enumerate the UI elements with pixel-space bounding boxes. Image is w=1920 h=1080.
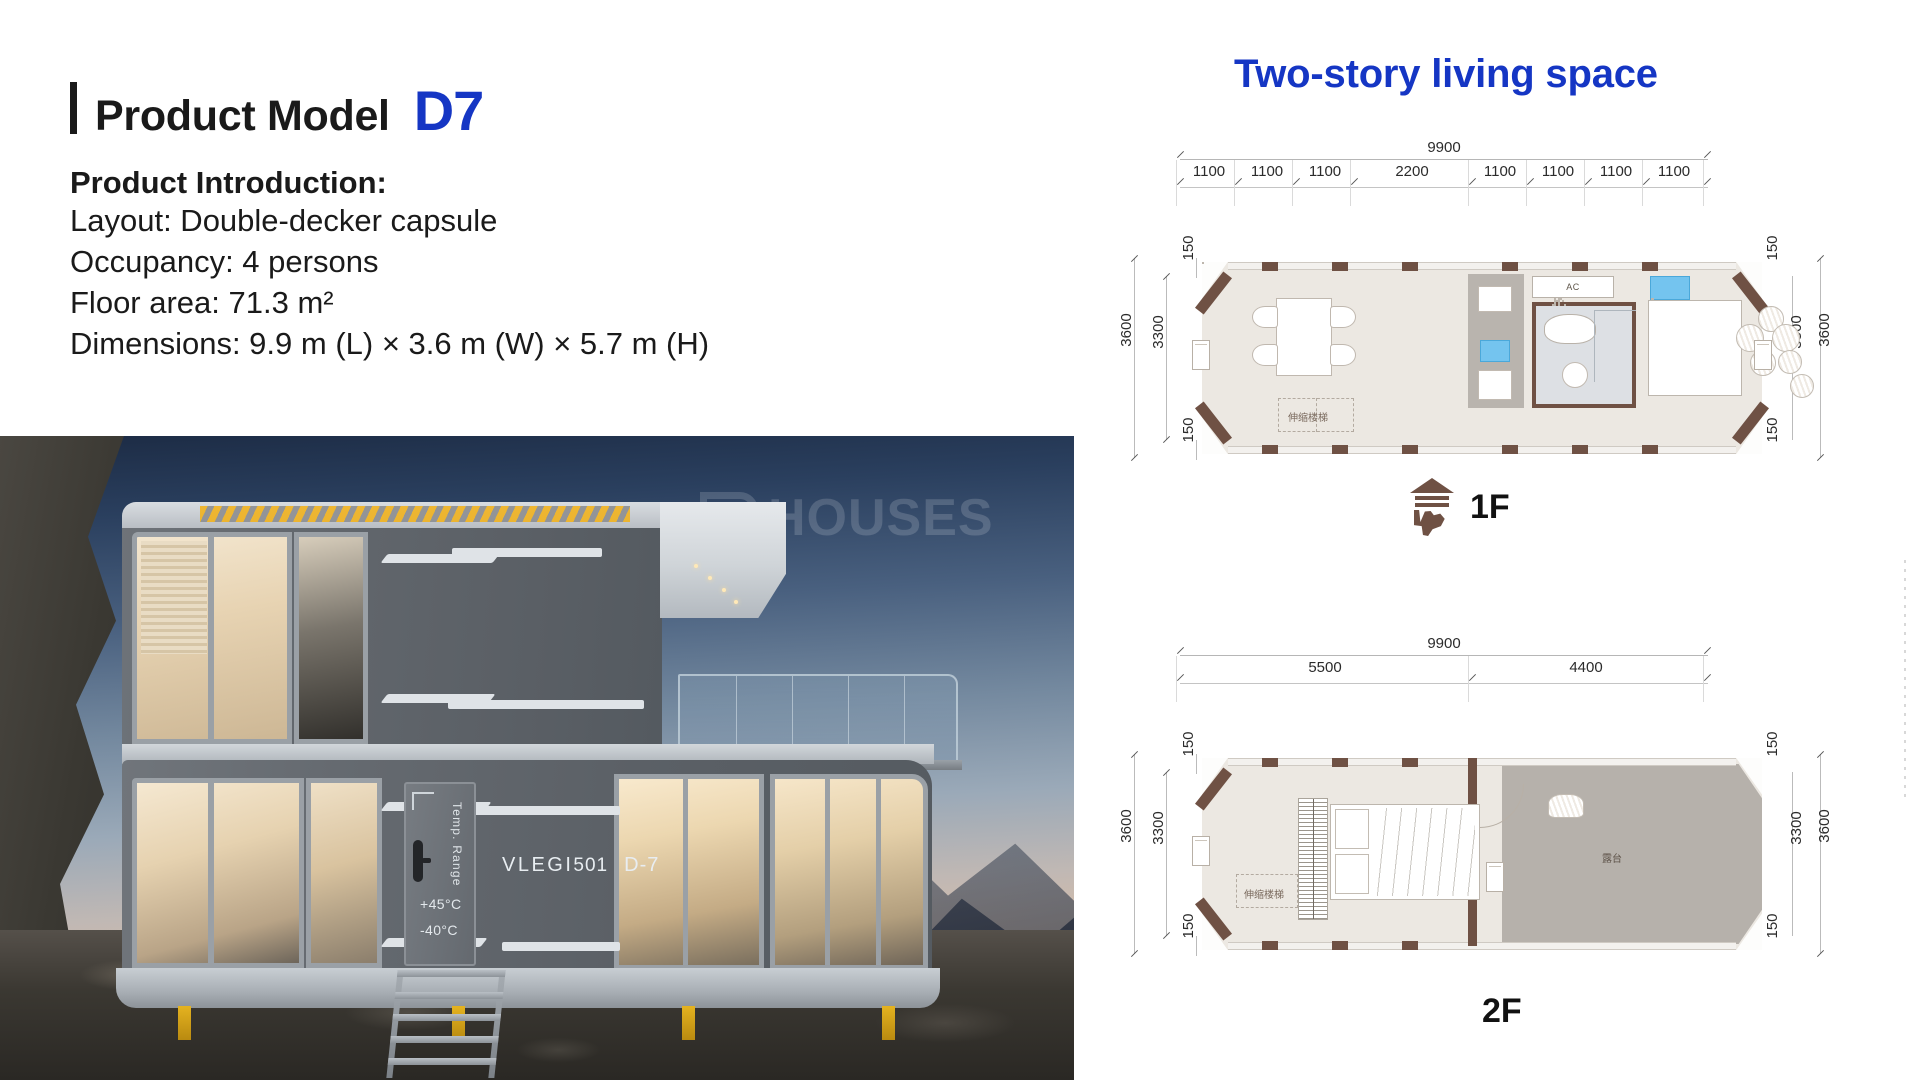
entry-stairs [386, 970, 505, 1078]
spec-occupancy: Occupancy: 4 persons [70, 242, 1030, 283]
vdim-inner-right-value-2f: 3300 [1788, 811, 1805, 844]
staircase-2f [1298, 798, 1328, 920]
cooktop-tile [1480, 340, 1510, 362]
decor-stripe-8 [502, 942, 620, 951]
support-leg [882, 1006, 895, 1040]
upper-window-right [294, 532, 368, 744]
spec-layout: Layout: Double-decker capsule [70, 201, 1030, 242]
temp-high-value: +45°C [420, 896, 461, 912]
dim-seg-8: 1100 [1658, 163, 1690, 180]
vdim-outer-value-1f: 3600 [1118, 313, 1135, 346]
floor-label-1f: 1F [1470, 488, 1510, 527]
upper-window-left [132, 532, 292, 744]
dim-seg-4: 2200 [1395, 163, 1428, 180]
vdim-inner-value-2f: 3300 [1150, 811, 1167, 844]
floor-tag-2f: 2F [1482, 992, 1522, 1031]
page-title: Product Model [95, 92, 390, 141]
lounge-cushion [1772, 324, 1800, 352]
support-leg [682, 1006, 695, 1040]
vdim-wallbot-right-value-1f: 150 [1764, 417, 1781, 442]
title-accent-bar [70, 82, 77, 134]
base-plinth [116, 968, 940, 1008]
toilet [1544, 314, 1596, 344]
dim-seg-5: 1100 [1484, 163, 1516, 180]
dim-seg-2f-2: 4400 [1569, 659, 1602, 676]
brand-model: D-7 [624, 854, 659, 876]
bed-1f [1648, 300, 1742, 396]
stairs-label-2f: 伸缩楼梯 [1244, 886, 1284, 901]
window-symbol-right [1754, 340, 1772, 370]
temp-range-label: Temp. Range [450, 802, 464, 887]
dim-total-value-2f: 9900 [1427, 635, 1460, 652]
lounge-chair-2f [1548, 794, 1584, 818]
window-symbol-left [1192, 340, 1210, 370]
vdim-walltop-value-2f: 150 [1180, 731, 1197, 756]
wall-bottom-2f [1228, 942, 1737, 950]
lower-window-left [132, 778, 304, 968]
floor-drain [1562, 362, 1588, 388]
vdim-outer-value-2f: 3600 [1118, 809, 1135, 842]
dim-total-value-1f: 9900 [1427, 139, 1460, 156]
vdim-wallbot-value-1f: 150 [1180, 417, 1197, 442]
vdim-outer-right-value-2f: 3600 [1816, 809, 1833, 842]
window-blind [141, 541, 207, 654]
vdim-walltop-value-1f: 150 [1180, 235, 1197, 260]
terrace-label-2f: 露台 [1602, 850, 1622, 865]
title-row: Product Model D7 [70, 78, 1030, 143]
terrace-area-2f [1502, 764, 1762, 944]
lower-window-right2 [770, 774, 928, 970]
spec-floor-area: Floor area: 71.3 m² [70, 283, 1030, 324]
temp-low-value: -40°C [420, 922, 458, 938]
floor-plan-1f: 伸缩楼梯 AC [1202, 262, 1762, 454]
brand-number: 501 [573, 855, 608, 876]
door-corner-mark [412, 792, 434, 810]
floor-tag-1f: 1F [1410, 478, 1510, 536]
vdim-wallbot-value-2f: 150 [1180, 913, 1197, 938]
wall-top-1f [1228, 262, 1737, 270]
page-edge-marks [1904, 560, 1906, 800]
door-handle[interactable] [413, 840, 423, 882]
wash-basin-tile [1650, 276, 1690, 300]
decor-stripe-2 [452, 548, 602, 557]
spec-dimensions: Dimensions: 9.9 m (L) × 3.6 m (W) × 5.7 … [70, 324, 1030, 365]
left-column: Product Model D7 Product Introduction: L… [0, 0, 1074, 1080]
kitchen-sink [1478, 286, 1512, 312]
dining-table [1276, 298, 1332, 376]
chair [1252, 344, 1278, 366]
vdim-inner-value-1f: 3300 [1150, 315, 1167, 348]
segment-dimensions-2f: 5500 4400 [1180, 656, 1708, 686]
entry-door[interactable]: Temp. Range +45°C -40°C [404, 782, 476, 966]
stairs-label-1f: 伸缩楼梯 [1288, 409, 1328, 424]
canopy-downlights [688, 560, 744, 610]
product-spec-slide: Product Model D7 Product Introduction: L… [0, 0, 1920, 1080]
capsule-house: Temp. Range +45°C -40°C VLEGI501D-7 [122, 502, 932, 1018]
bathroom [1532, 302, 1636, 408]
chair [1252, 306, 1278, 328]
ac-unit: AC [1532, 276, 1614, 298]
vdim-outer-right-value-1f: 3600 [1816, 313, 1833, 346]
right-panel-title: Two-story living space [1234, 52, 1658, 97]
dim-seg-2: 1100 [1251, 163, 1283, 180]
wall-top-2f [1228, 758, 1737, 766]
chair [1330, 306, 1356, 328]
window-symbol-mid-2f [1486, 862, 1504, 892]
window-symbol-left-2f [1192, 836, 1210, 866]
intro-heading: Product Introduction: [70, 165, 1030, 201]
floor-label-2f: 2F [1482, 992, 1522, 1031]
dim-seg-7: 1100 [1600, 163, 1632, 180]
vdim-walltop-right-value-2f: 150 [1764, 731, 1781, 756]
wall-bottom-1f [1228, 446, 1737, 454]
dim-seg-1: 1100 [1193, 163, 1225, 180]
lounge-cushion [1778, 350, 1802, 374]
dim-seg-2f-1: 5500 [1308, 659, 1341, 676]
model-code: D7 [414, 78, 484, 143]
kitchen-cabinet [1478, 370, 1512, 400]
dim-seg-6: 1100 [1542, 163, 1574, 180]
brand-marking: VLEGI501D-7 [502, 854, 659, 877]
bed-2f [1330, 804, 1480, 900]
decor-stripe-4 [448, 700, 644, 709]
support-leg [178, 1006, 191, 1040]
house-floor-icon [1410, 478, 1454, 536]
chair [1330, 344, 1356, 366]
dim-seg-3: 1100 [1309, 163, 1341, 180]
lower-window-left2 [306, 778, 382, 968]
vdim-walltop-right-value-1f: 150 [1764, 235, 1781, 260]
vdim-wallbot-right-value-2f: 150 [1764, 913, 1781, 938]
lounge-stool [1790, 374, 1814, 398]
product-photo: HOUSES [0, 436, 1074, 1080]
right-column: Two-story living space 9900 1100 [1074, 0, 1920, 1080]
hazard-stripe-top [200, 506, 630, 522]
shower-door-swing [1594, 310, 1636, 382]
brand-name: VLEGI [502, 854, 573, 876]
title-block: Product Model D7 Product Introduction: L… [70, 78, 1030, 365]
segment-dimensions-1f: 1100 1100 1100 2200 1100 1100 1100 1100 [1180, 160, 1708, 190]
floor-plan-2f: 伸缩楼梯 露台 [1202, 758, 1762, 950]
